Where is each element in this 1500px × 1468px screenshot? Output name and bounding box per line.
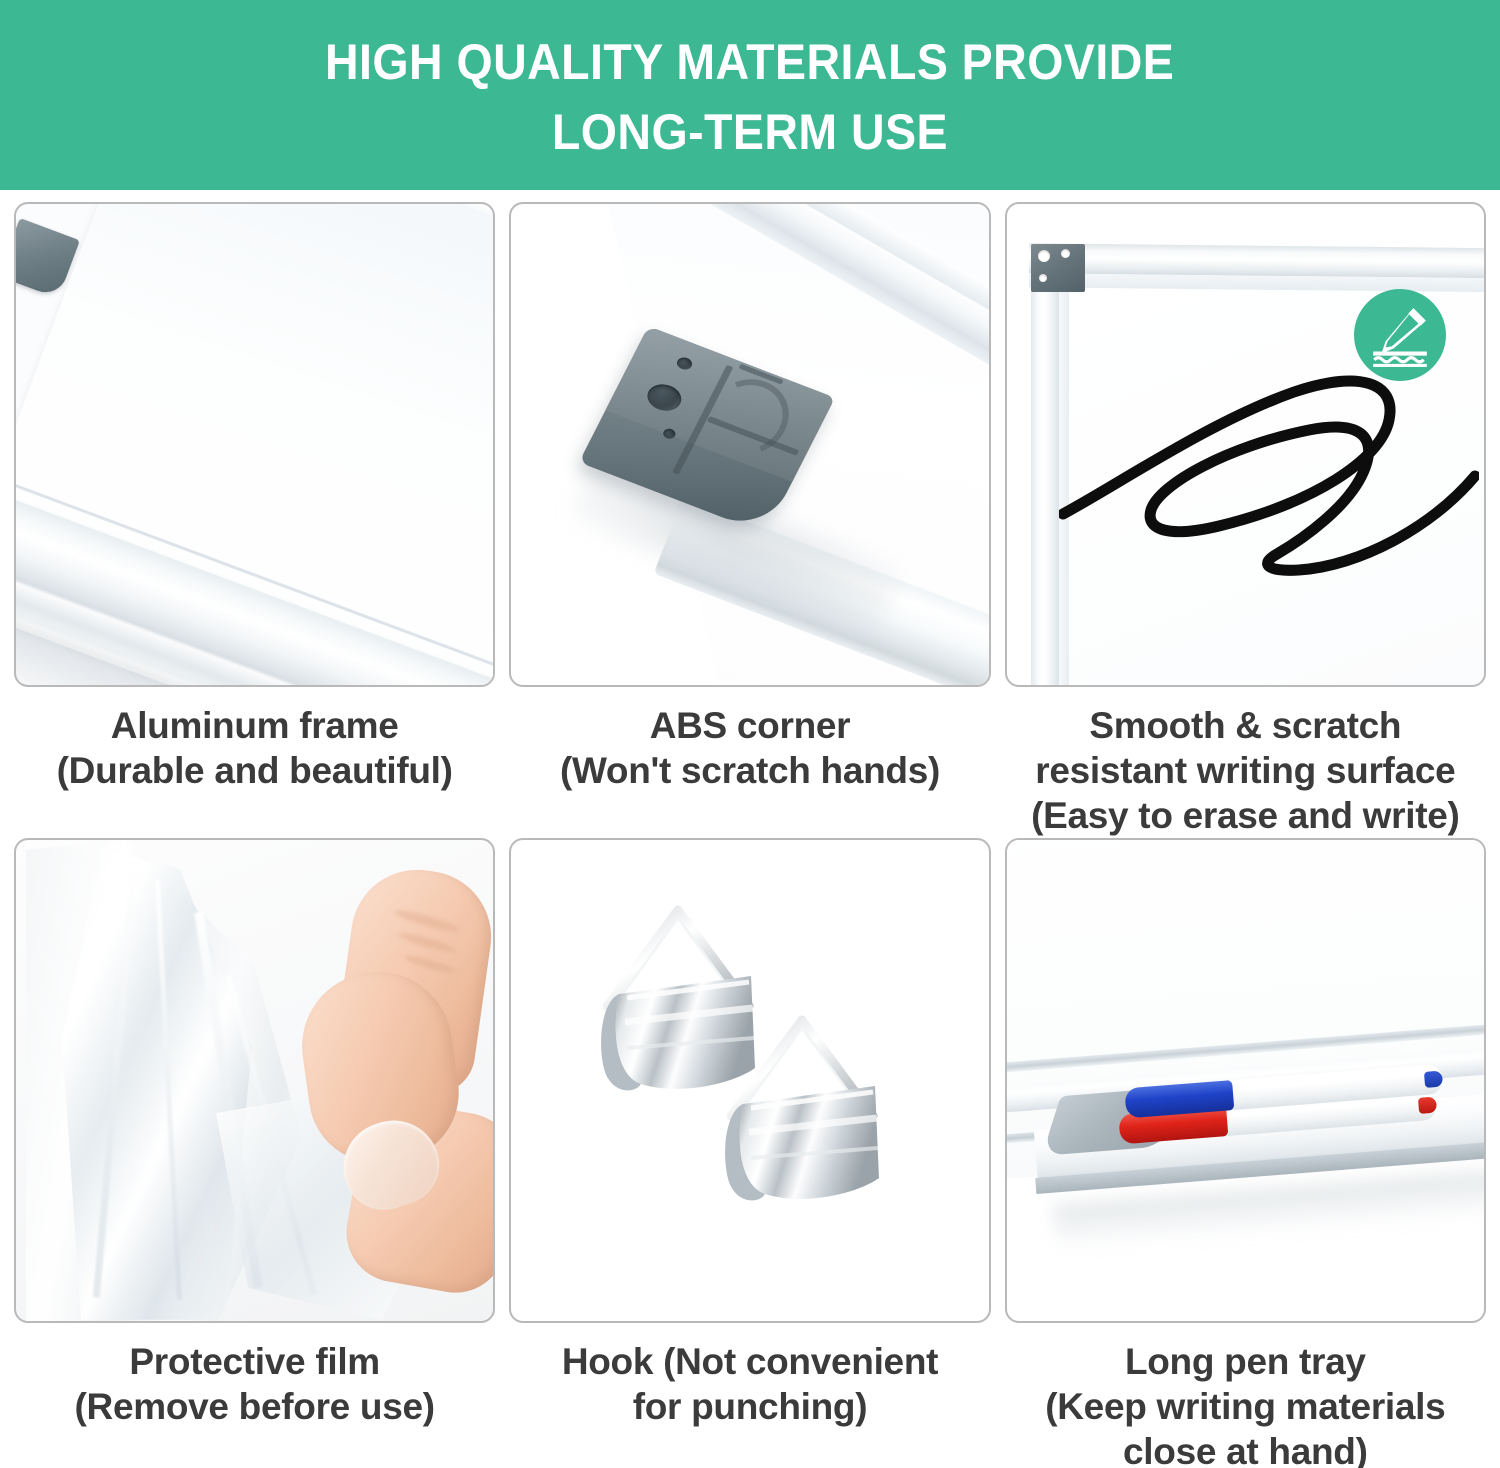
metal-hook: [707, 1008, 897, 1238]
feature-cell-aluminum-frame: Aluminum frame (Durable and beautiful): [14, 202, 495, 838]
caption-line: resistant writing surface: [1031, 748, 1459, 793]
feature-caption-pen-tray: Long pen tray (Keep writing materials cl…: [1041, 1323, 1449, 1468]
banner-title-line-2: LONG-TERM USE: [552, 97, 948, 167]
smooth-surface-badge: [1354, 289, 1446, 381]
caption-line: (Durable and beautiful): [57, 748, 453, 793]
caption-line: Aluminum frame: [57, 703, 453, 748]
caption-line: (Easy to erase and write): [1031, 793, 1459, 838]
caption-line: Smooth & scratch: [1031, 703, 1459, 748]
feature-cell-abs-corner: ABS corner (Won't scratch hands): [509, 202, 990, 838]
bracket-hole: [1038, 250, 1050, 262]
pen-on-surface-icon: [1367, 302, 1433, 368]
feature-image-pen-tray: [1005, 838, 1486, 1323]
caption-line: Long pen tray: [1045, 1339, 1445, 1384]
caption-line: for punching): [562, 1384, 938, 1429]
feature-cell-writing-surface: Smooth & scratch resistant writing surfa…: [1005, 202, 1486, 838]
bracket-hole: [1061, 249, 1070, 258]
feature-image-writing-surface: [1005, 202, 1486, 687]
caption-line: (Won't scratch hands): [560, 748, 940, 793]
feature-image-abs-corner: [509, 202, 990, 687]
feature-caption-writing-surface: Smooth & scratch resistant writing surfa…: [1027, 687, 1463, 838]
feature-caption-aluminum-frame: Aluminum frame (Durable and beautiful): [53, 687, 457, 827]
caption-line: Hook (Not convenient: [562, 1339, 938, 1384]
feature-image-protective-film: [14, 838, 495, 1323]
hand-peeling-film: [297, 876, 495, 1296]
feature-caption-protective-film: Protective film (Remove before use): [71, 1323, 439, 1463]
infographic-page: HIGH QUALITY MATERIALS PROVIDE LONG-TERM…: [0, 0, 1500, 1468]
feature-caption-abs-corner: ABS corner (Won't scratch hands): [556, 687, 944, 827]
caption-line: (Remove before use): [75, 1384, 435, 1429]
frame-bar-left: [1031, 256, 1059, 687]
feature-cell-protective-film: Protective film (Remove before use): [14, 838, 495, 1468]
feature-cell-hook: Hook (Not convenient for punching): [509, 838, 990, 1468]
feature-image-hook: [509, 838, 990, 1323]
header-banner: HIGH QUALITY MATERIALS PROVIDE LONG-TERM…: [0, 0, 1500, 190]
feature-grid: Aluminum frame (Durable and beautiful): [0, 190, 1500, 1468]
caption-line: Protective film: [75, 1339, 435, 1384]
feature-cell-pen-tray: Long pen tray (Keep writing materials cl…: [1005, 838, 1486, 1468]
caption-line: close at hand): [1045, 1429, 1445, 1468]
marker-scribble: [1059, 364, 1479, 624]
feature-caption-hook: Hook (Not convenient for punching): [558, 1323, 942, 1463]
caption-line: ABS corner: [560, 703, 940, 748]
banner-title-line-1: HIGH QUALITY MATERIALS PROVIDE: [325, 27, 1174, 97]
feature-image-aluminum-frame: [14, 202, 495, 687]
bracket-hole: [1039, 274, 1047, 282]
corner-mounting-bracket: [1031, 244, 1085, 292]
caption-line: (Keep writing materials: [1045, 1384, 1445, 1429]
